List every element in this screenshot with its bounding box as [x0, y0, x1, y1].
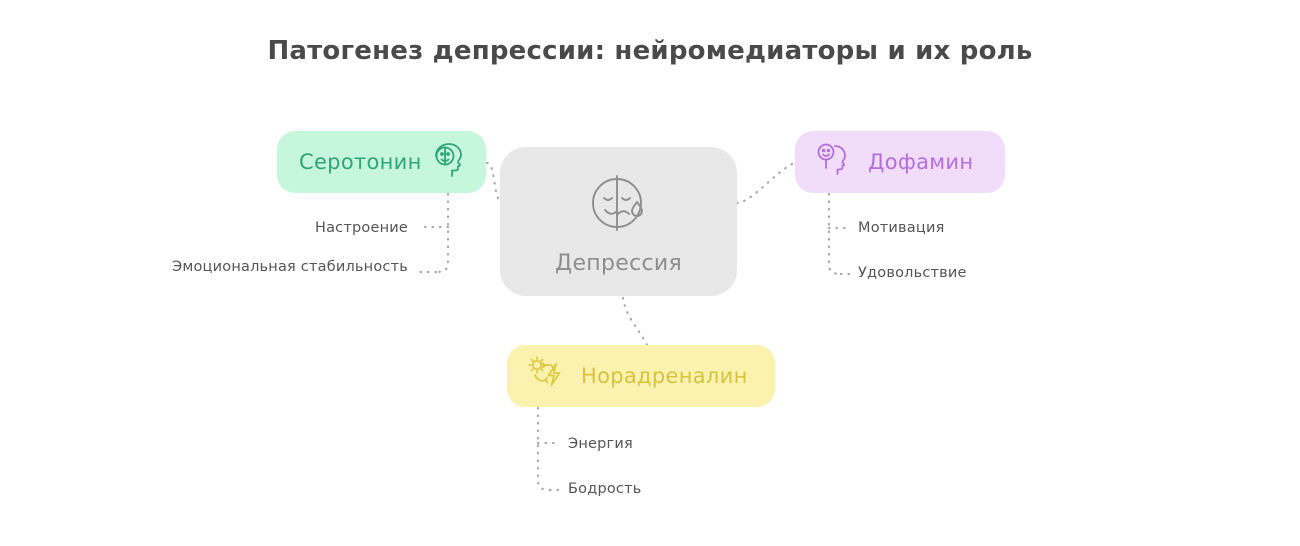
node-noradrenalin-label: Норадреналин	[581, 364, 748, 388]
node-dopamine-label: Дофамин	[868, 150, 973, 174]
link-noradrenalin-spine	[538, 408, 550, 490]
node-noradrenalin[interactable]: Норадреналин	[507, 345, 775, 407]
link-dopamine-spine	[829, 194, 841, 274]
leaf-noradrenalin-vigor: Бодрость	[568, 481, 641, 497]
link-center-to-noradrenalin	[623, 298, 647, 345]
head-with-face-icon	[428, 140, 468, 184]
leaf-dopamine-motivation: Мотивация	[858, 220, 945, 236]
link-center-to-dopamine	[737, 163, 794, 203]
split-face-sad-happy-tear-icon	[583, 167, 655, 243]
node-depression-label: Депрессия	[555, 251, 682, 276]
sun-lightning-arrows-icon	[525, 353, 567, 399]
leaf-serotonin-emotional-stability: Эмоциональная стабильность	[172, 259, 408, 275]
node-serotonin[interactable]: Серотонин	[277, 131, 486, 193]
leaf-serotonin-mood: Настроение	[315, 220, 408, 236]
leaf-noradrenalin-energy: Энергия	[568, 436, 633, 452]
head-with-smiley-balloon-icon	[814, 140, 854, 184]
node-depression[interactable]: Депрессия	[500, 147, 737, 296]
node-dopamine[interactable]: Дофамин	[795, 131, 1005, 193]
link-serotonin-spine	[436, 194, 448, 272]
mindmap-canvas: Патогенез депрессии: нейромедиаторы и их…	[0, 0, 1300, 546]
page-title: Патогенез депрессии: нейромедиаторы и их…	[0, 36, 1300, 66]
node-serotonin-label: Серотонин	[299, 150, 422, 174]
leaf-dopamine-pleasure: Удовольствие	[858, 265, 967, 281]
